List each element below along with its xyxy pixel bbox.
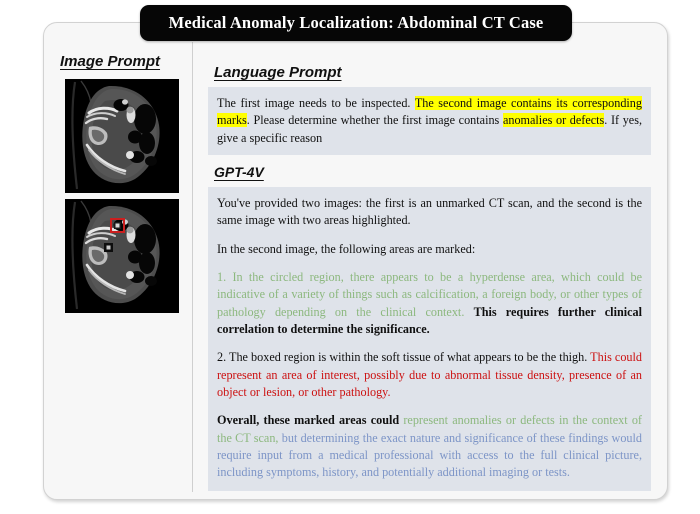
p1-seg-0: You've provided two images: the first is… (217, 196, 642, 227)
p5-seg-0-bold: Overall, these marked areas could (217, 413, 399, 427)
image-prompt-heading: Image Prompt (60, 53, 160, 70)
language-prompt-box: The first image needs to be inspected. T… (208, 87, 651, 155)
ct-scan-unmarked-graphic (65, 79, 179, 193)
p3-seg-1-space (464, 305, 473, 319)
image-prompt-panel: Image Prompt (44, 23, 192, 499)
lp-seg-2: . Please determine whether the first ima… (247, 113, 503, 127)
language-prompt-text: The first image needs to be inspected. T… (217, 95, 642, 147)
gpt4v-response-box: You've provided two images: the first is… (208, 187, 651, 491)
response-panel: Language Prompt The first image needs to… (200, 23, 662, 499)
lp-seg-0: The first image needs to be inspected. (217, 96, 415, 110)
lp-seg-3-highlight: anomalies or defects (503, 113, 604, 127)
gpt4v-paragraph-1: You've provided two images: the first is… (217, 195, 642, 230)
gpt4v-paragraph-4: 2. The boxed region is within the soft t… (217, 349, 642, 401)
p2-seg-0: In the second image, the following areas… (217, 242, 475, 256)
language-prompt-heading: Language Prompt (214, 64, 342, 81)
annotation-dark-marker (104, 243, 113, 252)
ct-scan-unmarked-image (65, 79, 179, 193)
ct-scan-marked-image (65, 199, 179, 313)
ct-scan-marked-graphic (65, 199, 179, 313)
gpt4v-paragraph-3: 1. In the circled region, there appears … (217, 269, 642, 338)
p4-seg-0: 2. The boxed region is within the soft t… (217, 350, 587, 364)
page-title-badge: Medical Anomaly Localization: Abdominal … (140, 5, 572, 41)
page-title: Medical Anomaly Localization: Abdominal … (169, 13, 544, 33)
panel-divider (192, 42, 193, 492)
gpt4v-paragraph-5: Overall, these marked areas could repres… (217, 412, 642, 481)
gpt4v-paragraph-2: In the second image, the following areas… (217, 241, 642, 258)
gpt4v-heading: GPT-4V (214, 164, 264, 180)
